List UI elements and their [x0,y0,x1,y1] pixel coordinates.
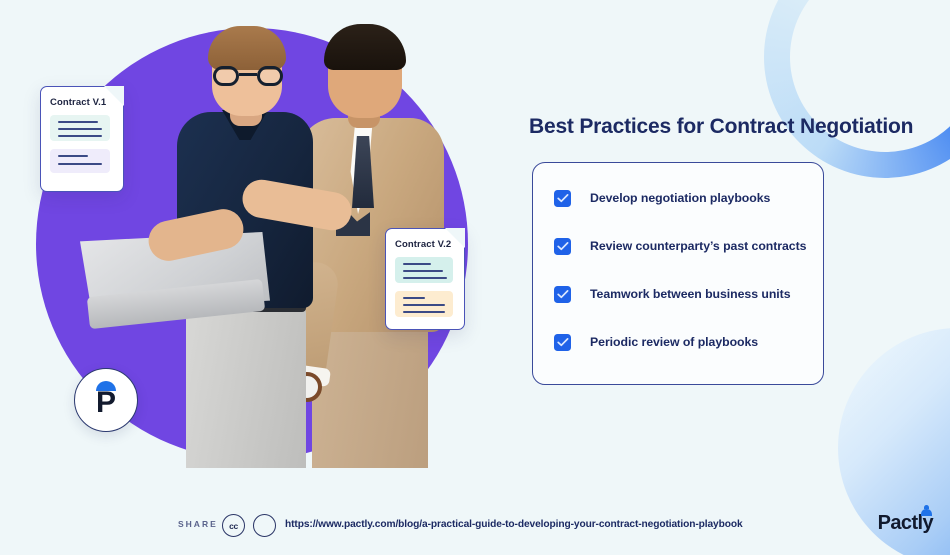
page-title: Best Practices for Contract Negotiation [529,115,913,139]
contract-card-v1: Contract V.1 [40,86,124,192]
contract-card-v1-block-a [50,115,110,141]
checklist-item[interactable]: Review counterparty’s past contracts [554,237,809,255]
checklist: Develop negotiation playbooks Review cou… [554,189,809,351]
best-practices-card: Develop negotiation playbooks Review cou… [532,162,824,385]
eyeglasses-icon [213,66,283,86]
checkbox-checked-icon[interactable] [554,190,571,207]
pactly-mark-icon [921,509,932,516]
checkbox-checked-icon[interactable] [554,286,571,303]
checkbox-checked-icon[interactable] [554,334,571,351]
contract-card-v2-title: Contract V.2 [395,239,451,250]
creative-commons-text: cc [223,521,244,531]
contract-card-v2: Contract V.2 [385,228,465,330]
checklist-item[interactable]: Develop negotiation playbooks [554,189,809,207]
checklist-item-label: Periodic review of playbooks [590,335,758,349]
attribution-person-icon[interactable] [253,514,276,537]
decorative-ring-shape [764,0,950,178]
contract-card-v1-block-b [50,149,110,173]
photo-composition: Contract V.1 Contract V.2 [0,0,500,490]
checklist-item-label: Teamwork between business units [590,287,791,301]
checkbox-checked-icon[interactable] [554,238,571,255]
creative-commons-icon[interactable]: cc [222,514,245,537]
article-url[interactable]: https://www.pactly.com/blog/a-practical-… [285,519,743,530]
contract-card-v2-block-b [395,291,453,317]
checklist-item[interactable]: Teamwork between business units [554,285,809,303]
contract-card-v1-title: Contract V.1 [50,97,106,108]
page-fold-icon [104,86,124,106]
checklist-item-label: Develop negotiation playbooks [590,191,770,205]
poster-canvas: Contract V.1 Contract V.2 [0,0,950,555]
pactly-wordmark: Pactly [878,512,933,535]
pactly-badge-letter: P [75,388,137,418]
checklist-item-label: Review counterparty’s past contracts [590,239,806,253]
checklist-item[interactable]: Periodic review of playbooks [554,333,809,351]
pactly-badge: P [74,368,138,432]
contract-card-v2-block-a [395,257,453,283]
share-label: SHARE [178,519,218,529]
